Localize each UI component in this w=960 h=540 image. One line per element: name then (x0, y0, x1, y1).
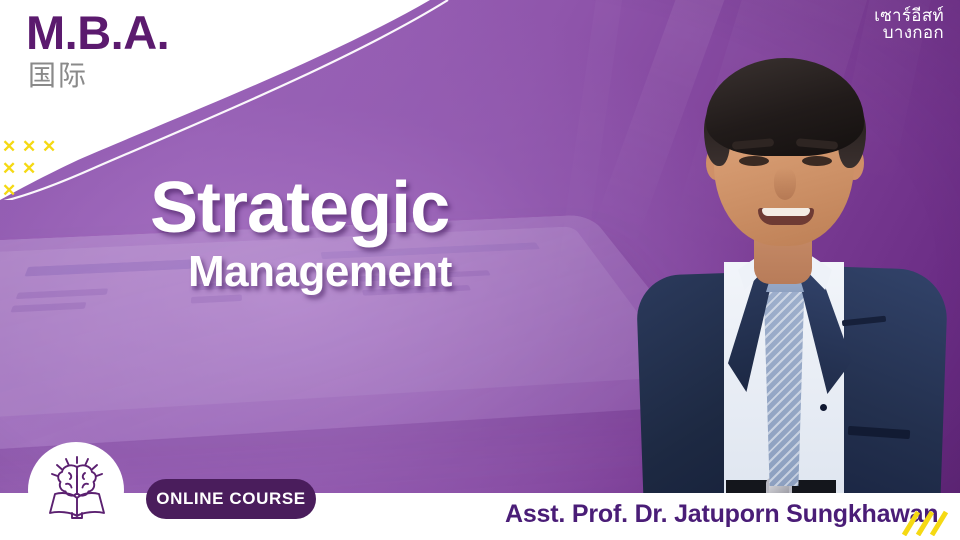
course-title-sub: Management (188, 250, 670, 294)
online-course-badge-label: ONLINE COURSE (156, 489, 305, 509)
x-mark-icon: ✕ (22, 140, 35, 153)
slash-line (932, 512, 946, 535)
course-title-main: Strategic (150, 172, 670, 244)
hair (706, 58, 864, 156)
slash-line (904, 512, 918, 535)
instructor-name: Asst. Prof. Dr. Jatuporn Sungkhawan (505, 500, 938, 529)
jacket-button (820, 404, 827, 411)
eye-right (802, 156, 832, 166)
online-course-badge[interactable]: ONLINE COURSE (146, 479, 316, 519)
x-mark-icon: ✕ (2, 184, 15, 197)
program-logo-subtitle-cn: 国际 (28, 59, 266, 93)
x-mark-icon: ✕ (42, 140, 55, 153)
eye-left (739, 156, 769, 166)
brain-book-icon (46, 456, 108, 520)
slash-line (918, 512, 932, 535)
x-mark-icon: ✕ (2, 140, 15, 153)
teeth (762, 208, 810, 216)
nose (774, 168, 796, 200)
course-poster: M.B.A. 国际 ✕ ✕ ✕ ✕ ✕ ✕ เซาร์อีสท์ บางกอก (0, 0, 960, 540)
necktie (764, 268, 804, 486)
x-mark-decoration: ✕ ✕ ✕ ✕ ✕ ✕ (2, 140, 62, 202)
program-logo-title: M.B.A. (26, 8, 266, 57)
program-logo: M.B.A. 国际 (26, 8, 266, 93)
x-mark-icon: ✕ (22, 162, 35, 175)
course-title-block: Strategic Management (150, 172, 670, 294)
yellow-slash-decoration (900, 510, 952, 536)
x-mark-icon: ✕ (2, 162, 15, 175)
